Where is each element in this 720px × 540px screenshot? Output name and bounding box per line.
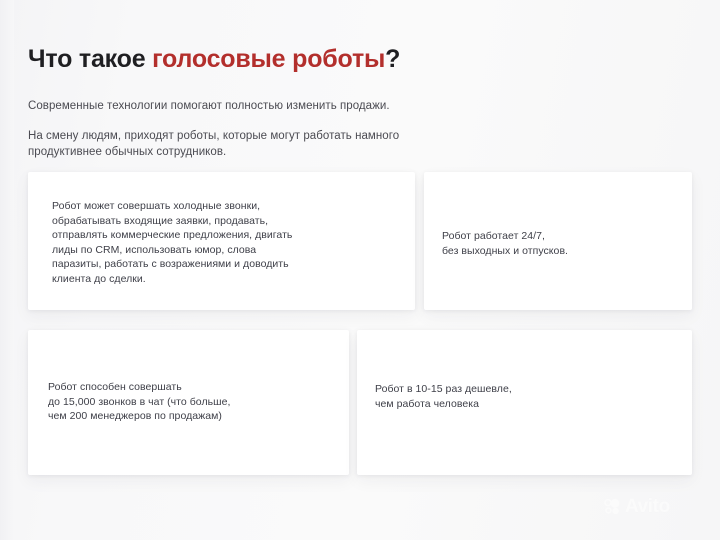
page-title-accent: голосовые роботы bbox=[152, 45, 385, 73]
subtitle-line-1: Современные технологии помогают полность… bbox=[28, 98, 390, 114]
feature-card-capabilities: Робот может совершать холодные звонки, о… bbox=[28, 172, 415, 310]
feature-card-volume: Робот способен совершать до 15,000 звонк… bbox=[28, 330, 349, 475]
page-title: Что такое голосовые роботы? bbox=[28, 44, 668, 74]
page-title-part-1: Что такое bbox=[28, 45, 152, 73]
feature-card-cost: Робот в 10-15 раз дешевле, чем работа че… bbox=[357, 330, 692, 475]
subtitle-line-2: На смену людям, приходят роботы, которые… bbox=[28, 129, 448, 160]
page-title-part-3: ? bbox=[385, 45, 400, 73]
feature-card-text: Робот в 10-15 раз дешевле, чем работа че… bbox=[375, 382, 545, 411]
feature-card-text: Робот способен совершать до 15,000 звонк… bbox=[48, 380, 248, 424]
header-block: Что такое голосовые роботы? Современные … bbox=[28, 44, 668, 74]
avito-logo-icon bbox=[604, 498, 621, 515]
avito-watermark-label: Avito bbox=[625, 497, 670, 516]
feature-card-text: Робот может совершать холодные звонки, о… bbox=[52, 199, 302, 287]
avito-watermark: Avito bbox=[604, 497, 670, 516]
feature-card-availability: Робот работает 24/7, без выходных и отпу… bbox=[424, 172, 692, 310]
feature-card-text: Робот работает 24/7, без выходных и отпу… bbox=[442, 229, 592, 258]
slide-canvas: Что такое голосовые роботы? Современные … bbox=[0, 0, 720, 540]
